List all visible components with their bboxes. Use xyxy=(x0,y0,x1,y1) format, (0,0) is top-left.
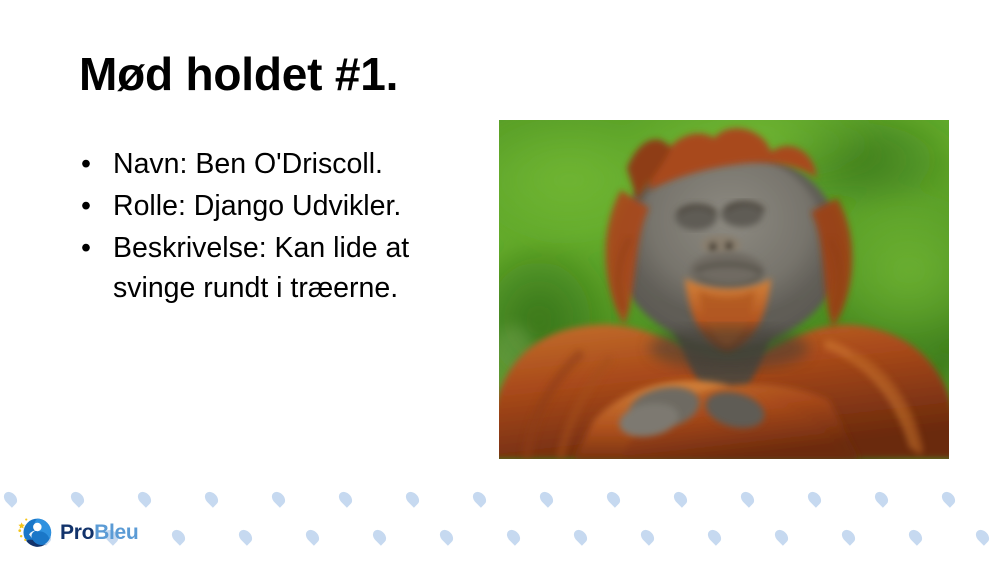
droplet-icon xyxy=(236,527,254,545)
droplet-icon xyxy=(872,489,890,507)
droplet-icon xyxy=(604,489,622,507)
slide-canvas: Mød holdet #1. • Navn: Ben O'Driscoll. •… xyxy=(0,0,1000,563)
page-title: Mød holdet #1. xyxy=(79,50,398,98)
droplet-icon xyxy=(68,489,86,507)
droplet-icon xyxy=(303,527,321,545)
droplet-icon xyxy=(504,527,522,545)
problue-logo: ProBleu xyxy=(17,514,138,551)
droplet-icon xyxy=(973,527,991,545)
droplet-icon xyxy=(403,489,421,507)
bullet-marker-icon: • xyxy=(81,228,91,268)
droplet-icon xyxy=(671,489,689,507)
droplet-icon xyxy=(772,527,790,545)
droplet-icon xyxy=(470,489,488,507)
list-item: • Beskrivelse: Kan lide at svinge rundt … xyxy=(78,228,478,308)
orangutan-photo-illustration xyxy=(499,120,949,459)
droplet-icon xyxy=(571,527,589,545)
droplet-icon xyxy=(336,489,354,507)
droplet-icon xyxy=(705,527,723,545)
droplet-icon xyxy=(135,489,153,507)
droplet-icon xyxy=(269,489,287,507)
droplet-icon xyxy=(437,527,455,545)
droplet-icon xyxy=(370,527,388,545)
footer-droplet-pattern xyxy=(0,478,1000,563)
bullet-marker-icon: • xyxy=(81,186,91,226)
bullet-list: • Navn: Ben O'Driscoll. • Rolle: Django … xyxy=(78,144,478,310)
list-item-text: Navn: Ben O'Driscoll. xyxy=(113,144,478,184)
droplet-icon xyxy=(805,489,823,507)
bullet-marker-icon: • xyxy=(81,144,91,184)
orangutan-photo xyxy=(499,120,949,459)
list-item: • Navn: Ben O'Driscoll. xyxy=(78,144,478,184)
droplet-icon xyxy=(738,489,756,507)
droplet-icon xyxy=(906,527,924,545)
list-item: • Rolle: Django Udvikler. xyxy=(78,186,478,226)
droplet-icon xyxy=(537,489,555,507)
droplet-icon xyxy=(638,527,656,545)
droplet-icon xyxy=(169,527,187,545)
list-item-text: Beskrivelse: Kan lide at svinge rundt i … xyxy=(113,228,478,308)
problue-emblem-icon xyxy=(17,514,54,551)
droplet-icon xyxy=(839,527,857,545)
list-item-text: Rolle: Django Udvikler. xyxy=(113,186,478,226)
logo-word-secondary: Bleu xyxy=(94,521,138,544)
droplet-icon xyxy=(1,489,19,507)
droplet-icon xyxy=(939,489,957,507)
logo-wordmark: ProBleu xyxy=(60,521,138,545)
droplet-icon xyxy=(202,489,220,507)
logo-word-primary: Pro xyxy=(60,521,94,544)
